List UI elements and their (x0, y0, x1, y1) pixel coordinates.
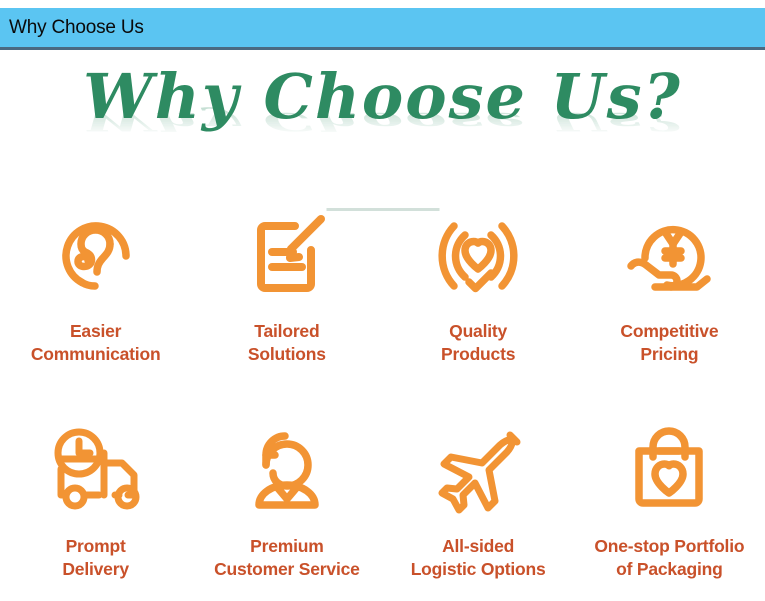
feature-label: Competitive Pricing (620, 320, 718, 366)
feature-label: One-stop Portfolio of Packaging (594, 535, 744, 581)
feature-item-competitive-pricing[interactable]: Competitive Pricing (574, 196, 765, 411)
window-header-bar: Why Choose Us (0, 8, 765, 50)
feature-label: Quality Products (441, 320, 515, 366)
ear-listening-icon (44, 196, 148, 316)
feature-label: Easier Communication (31, 320, 161, 366)
feature-item-tailored-solutions[interactable]: Tailored Solutions (191, 196, 382, 411)
document-pencil-icon (235, 196, 339, 316)
feature-item-easier-communication[interactable]: Easier Communication (0, 196, 191, 411)
feature-grid: Easier Communication Tailored Solutions (0, 196, 765, 601)
heart-signal-check-icon (426, 196, 530, 316)
feature-item-all-sided-logistic-options[interactable]: All-sided Logistic Options (383, 411, 574, 601)
feature-item-prompt-delivery[interactable]: Prompt Delivery (0, 411, 191, 601)
feature-label: Tailored Solutions (248, 320, 326, 366)
shopping-bag-heart-icon (617, 411, 721, 531)
hero-heading: Why Choose Us? (0, 60, 765, 133)
airplane-icon (426, 411, 530, 531)
headset-agent-icon (235, 411, 339, 531)
hand-coin-yen-icon (617, 196, 721, 316)
feature-item-one-stop-portfolio-of-packaging[interactable]: One-stop Portfolio of Packaging (574, 411, 765, 601)
hero-section: Why Choose Us? Why Choose Us? (0, 50, 765, 168)
window-top-spacer (0, 0, 765, 8)
page-title: Why Choose Us (0, 17, 144, 39)
feature-item-premium-customer-service[interactable]: Premium Customer Service (191, 411, 382, 601)
truck-clock-icon (41, 411, 151, 531)
feature-label: All-sided Logistic Options (411, 535, 546, 581)
feature-item-quality-products[interactable]: Quality Products (383, 196, 574, 411)
feature-label: Premium Customer Service (214, 535, 360, 581)
feature-label: Prompt Delivery (62, 535, 129, 581)
